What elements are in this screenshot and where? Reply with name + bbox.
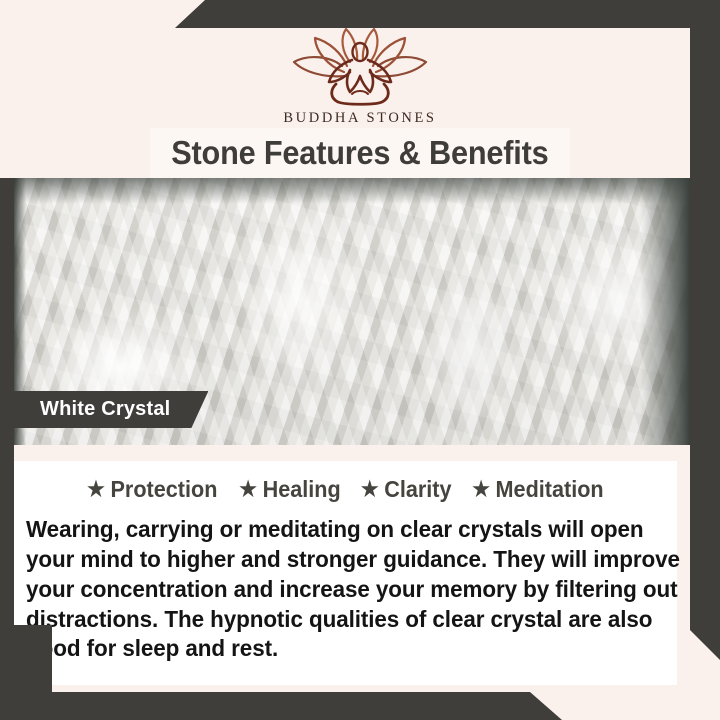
benefit-item: ★ Protection <box>87 476 217 503</box>
page-title: Stone Features & Benefits <box>171 134 548 172</box>
page-title-banner: Stone Features & Benefits <box>150 128 570 178</box>
benefit-label: Healing <box>262 476 340 503</box>
content-panel: ★ Protection ★ Healing ★ Clarity ★ Medit… <box>14 461 677 685</box>
benefit-item: ★ Clarity <box>361 476 452 503</box>
frame-right-bar <box>690 0 720 660</box>
brand-block: BUDDHA STONES <box>0 26 720 127</box>
content-top-strip <box>14 445 677 461</box>
frame-bottom-bar <box>0 692 720 720</box>
star-icon: ★ <box>87 479 105 500</box>
frame-left-bar <box>0 178 14 690</box>
benefit-label: Meditation <box>496 476 604 503</box>
benefits-row: ★ Protection ★ Healing ★ Clarity ★ Medit… <box>14 467 677 511</box>
benefit-item: ★ Healing <box>239 476 340 503</box>
poster-root: BUDDHA STONES White Crystal Stone Featur… <box>0 0 720 720</box>
benefit-label: Clarity <box>384 476 451 503</box>
brand-name: BUDDHA STONES <box>283 110 436 127</box>
star-icon: ★ <box>239 479 257 500</box>
stone-name-badge: White Crystal <box>14 391 208 428</box>
stone-name-text: White Crystal <box>40 398 170 421</box>
benefit-label: Protection <box>111 476 218 503</box>
hero-top-shadow <box>0 178 720 204</box>
description-text: Wearing, carrying or meditating on clear… <box>26 515 685 664</box>
lotus-meditation-icon <box>284 26 436 108</box>
benefit-item: ★ Meditation <box>472 476 603 503</box>
hero-image: White Crystal <box>0 178 720 445</box>
star-icon: ★ <box>361 479 379 500</box>
star-icon: ★ <box>472 479 490 500</box>
